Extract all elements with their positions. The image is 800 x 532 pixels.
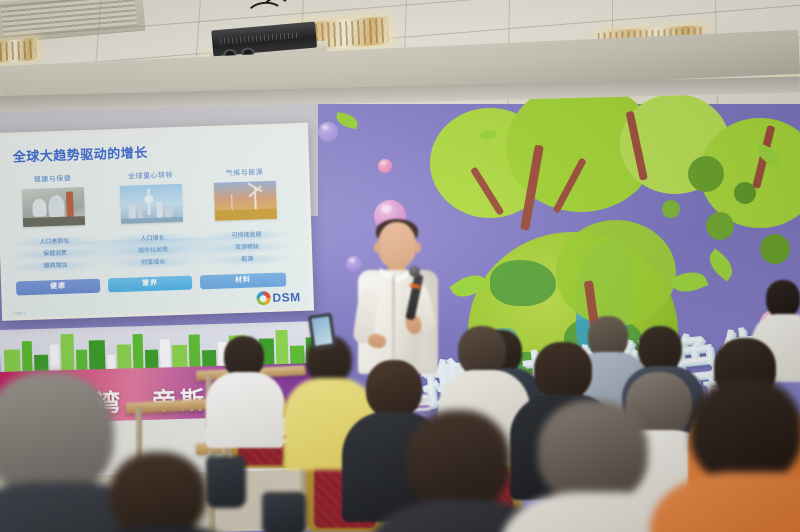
- photo-scene: 携手共创绿色生活 帝斯曼星火场地开放日 海湾，帝斯 全球大: [0, 0, 800, 532]
- dsm-logo: DSM: [256, 290, 301, 305]
- column-heading: 全球重心转移: [104, 169, 196, 182]
- smartphone: [308, 312, 336, 349]
- bubble-graphic: [318, 122, 338, 142]
- handbag: [262, 492, 306, 532]
- presentation-slide: 全球大趋势驱动的增长 健康与保健 人口老龄化 保健消费 慢病增加 全球重心转移: [0, 126, 311, 318]
- presenter-ear: [414, 242, 421, 253]
- slide-pill-nutrition: 营养: [108, 276, 192, 293]
- leaf-graphic: [704, 248, 739, 281]
- recessed-light: [0, 38, 39, 64]
- dsm-circle-icon: [256, 291, 270, 305]
- column-image-health: [22, 187, 85, 227]
- projection-screen: 全球大趋势驱动的增长 健康与保健 人口老龄化 保健消费 慢病增加 全球重心转移: [0, 123, 314, 321]
- slide-title: 全球大趋势驱动的增长: [12, 142, 148, 165]
- dsm-wordmark: DSM: [272, 290, 301, 305]
- presenter: [352, 222, 444, 372]
- column-heading: 健康与保健: [6, 173, 98, 186]
- presenter-ear: [374, 242, 381, 253]
- column-heading: 气候与能源: [198, 166, 290, 179]
- presenter-shirt-placket: [392, 276, 395, 370]
- handbag: [206, 456, 246, 508]
- slide-pill-health: 健康: [16, 279, 100, 296]
- slide-pill-materials: 材料: [200, 272, 286, 289]
- air-vent: [0, 0, 146, 43]
- column-image-city: [120, 184, 183, 224]
- column-image-energy: [214, 181, 277, 221]
- slide-page-label: Page 4: [13, 310, 26, 315]
- bubble-graphic: [378, 159, 392, 173]
- leaf-graphic: [335, 112, 359, 129]
